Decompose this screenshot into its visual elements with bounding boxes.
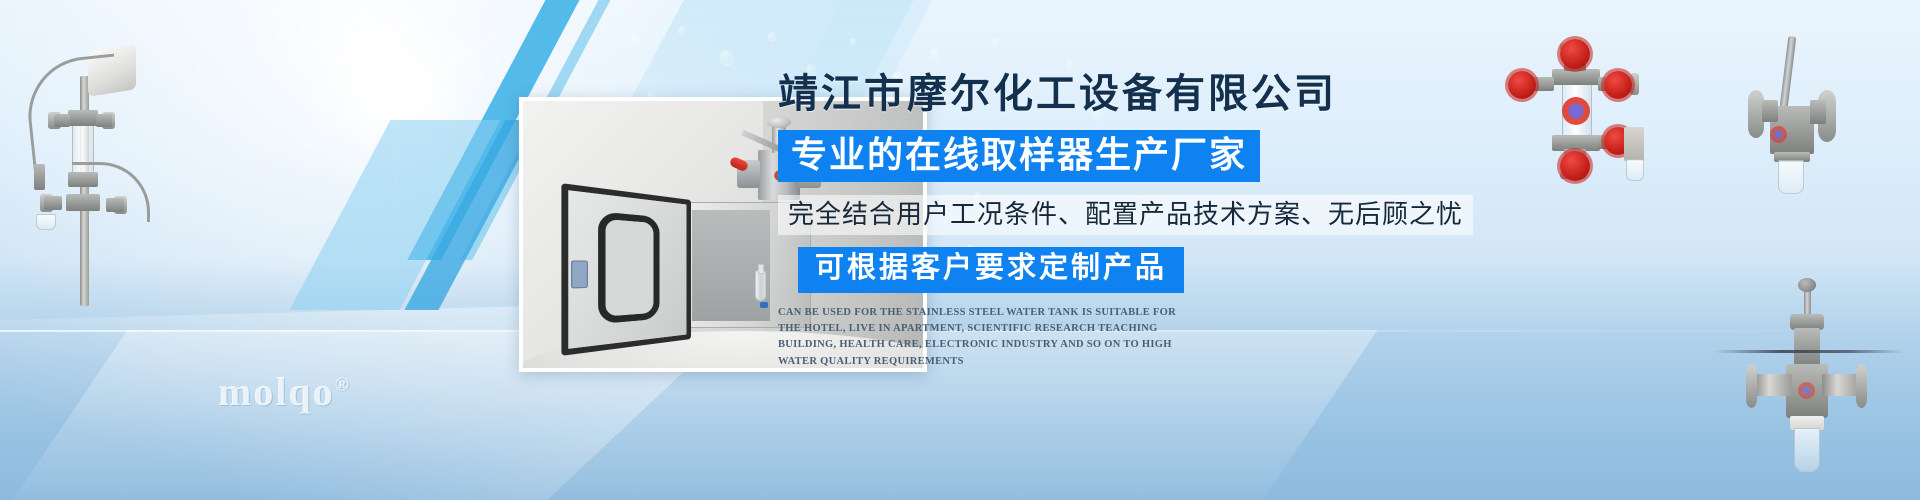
watermark-text: molqo <box>218 369 335 414</box>
banner-text-block: 靖江市摩尔化工设备有限公司 专业的在线取样器生产厂家 完全结合用户工况条件、配置… <box>778 72 1418 370</box>
water-droplet <box>850 38 856 46</box>
tagline-custom-badge: 可根据客户要求定制产品 <box>798 247 1184 292</box>
english-description: CAN BE USED FOR THE STAINLESS STEEL WATE… <box>778 305 1196 370</box>
water-droplet <box>720 50 733 66</box>
sun-ray <box>395 0 400 93</box>
water-droplet <box>678 26 685 35</box>
water-droplet <box>992 38 999 47</box>
water-droplet <box>1066 60 1073 69</box>
right-valve-manifold-render <box>1490 35 1680 185</box>
registered-mark-icon: ® <box>335 375 349 396</box>
right-lever-valve-render <box>1718 28 1868 203</box>
right-lower-valve-render <box>1742 278 1882 478</box>
sun-ray <box>397 91 475 96</box>
water-droplet <box>768 32 776 42</box>
product-hero-banner: 靖江市摩尔化工设备有限公司 专业的在线取样器生产厂家 完全结合用户工况条件、配置… <box>0 0 1920 500</box>
water-droplet <box>630 34 639 45</box>
brand-watermark: molqo® <box>218 368 349 415</box>
sun-ray <box>327 91 397 96</box>
water-droplet <box>930 48 939 59</box>
left-product-render <box>10 28 160 308</box>
tagline-secondary: 完全结合用户工况条件、配置产品技术方案、无后顾之忧 <box>778 195 1473 236</box>
company-name: 靖江市摩尔化工设备有限公司 <box>778 72 1418 116</box>
tagline-primary-badge: 专业的在线取样器生产厂家 <box>778 130 1260 182</box>
